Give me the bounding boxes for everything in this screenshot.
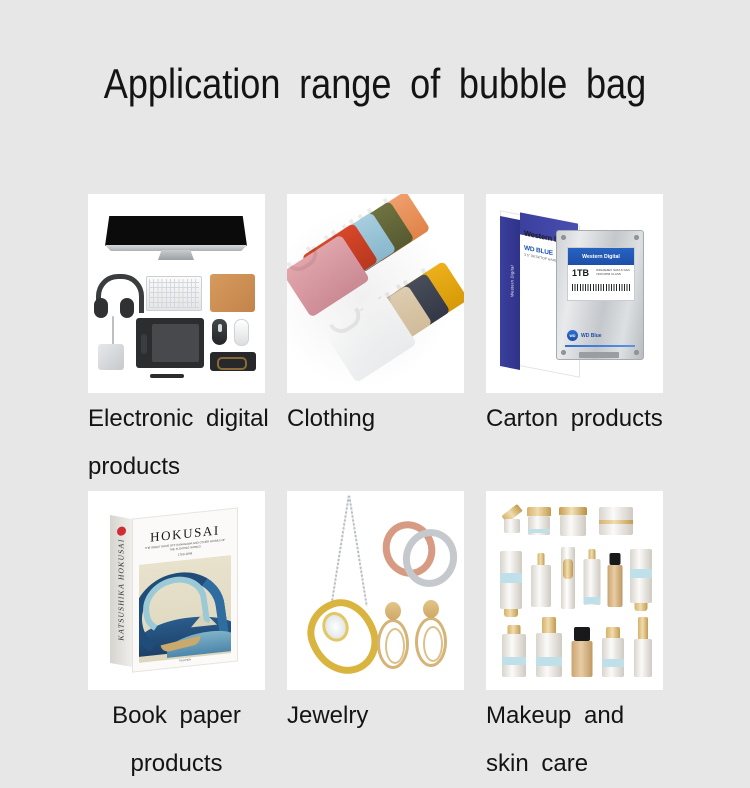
slim-dropper-bottle-icon (558, 547, 578, 611)
barcode-icon (572, 284, 630, 291)
grid-row: KATSUSHIKA HOKUSAI HOKUSAI THE GREAT WAV… (88, 491, 664, 788)
thumbnail-carton-products[interactable]: Western Digital Western Digital WD BLUE … (486, 194, 663, 393)
hard-drive-connector-icon (579, 352, 619, 358)
squeeze-tube-icon (498, 551, 524, 617)
mouse-pad-icon (210, 274, 255, 312)
lotion-tube-icon (628, 549, 654, 611)
cosmetics-set (496, 505, 654, 677)
thumbnail-makeup-and-skin-care[interactable] (486, 491, 663, 690)
thumbnail-clothing[interactable] (287, 194, 464, 393)
caption-carton-products: Carton products (486, 395, 663, 443)
retail-box-spine: Western Digital (500, 216, 520, 370)
caption-book-paper-products: Book paper products (88, 692, 265, 788)
black-mouse-icon (212, 319, 227, 345)
striped-cream-jar-icon (598, 507, 634, 537)
hard-drive-spec-text: WD10EZEX SATA 6 Gb/s 7200 RPM CLASS (596, 268, 632, 276)
wd-logo-icon: WD (567, 330, 578, 341)
pump-dispenser-icon (534, 617, 564, 677)
serum-bottle-icon (530, 553, 552, 611)
keyboard-icon (146, 276, 202, 311)
screw-icon (561, 350, 566, 355)
cream-jar-icon (526, 507, 552, 537)
category-cell-makeup-and-skin-care[interactable]: Makeup and skin care (486, 491, 663, 788)
retail-box-spine-text: Western Digital (510, 235, 515, 326)
hard-drive-logo: WD WD Blue (567, 330, 633, 341)
necklace-pendant-icon (299, 590, 387, 683)
hard-drive: Western Digital 1TB WD10EZEX SATA 6 Gb/s… (556, 230, 644, 360)
screw-icon (561, 235, 566, 240)
gold-cap-bottle-icon (600, 627, 626, 677)
product-category-grid: Electronic digital products Clothing (88, 194, 664, 788)
foundation-bottle-icon (606, 553, 624, 611)
book-cover: HOKUSAI THE GREAT WAVE OFF KANAGAWA AND … (132, 507, 238, 672)
thumbnail-jewelry[interactable] (287, 491, 464, 690)
cream-jar-tilted-icon (500, 507, 524, 533)
wide-cream-jar-icon (558, 507, 588, 537)
graphics-tablet-icon (136, 318, 204, 368)
hard-drive-brand-text: Western Digital (568, 248, 634, 265)
category-cell-book-paper-products[interactable]: KATSUSHIKA HOKUSAI HOKUSAI THE GREAT WAV… (88, 491, 265, 788)
headphone-earcup-right-icon (120, 298, 134, 318)
hard-drive-accent-line (565, 345, 635, 347)
stylus-pen-icon (150, 374, 184, 378)
clothing-shadow (287, 194, 464, 393)
screw-icon (634, 350, 639, 355)
earring-left-icon (377, 619, 409, 669)
page-title: Application range of bubble bag (53, 58, 698, 110)
category-cell-clothing[interactable]: Clothing (287, 194, 464, 491)
thumbnail-electronic-digital-products[interactable] (88, 194, 265, 393)
caption-makeup-and-skin-care: Makeup and skin care (486, 692, 663, 788)
monitor-screen-icon (105, 216, 247, 246)
caption-jewelry: Jewelry (287, 692, 464, 740)
tapered-tube-icon (582, 549, 602, 611)
toner-bottle-icon (500, 625, 528, 677)
necklace-chain-right-icon (348, 496, 367, 607)
monitor-stand-icon (158, 250, 194, 260)
white-mouse-icon (234, 319, 249, 346)
earring-right-icon (415, 617, 447, 667)
headphone-earcup-left-icon (94, 298, 108, 318)
black-cap-foundation-icon (570, 627, 594, 677)
hard-drive-logo-text: WD Blue (581, 333, 602, 339)
grid-row: Electronic digital products Clothing (88, 194, 664, 491)
hard-drive-label: Western Digital 1TB WD10EZEX SATA 6 Gb/s… (567, 247, 635, 301)
caption-clothing: Clothing (287, 395, 464, 443)
thumbnail-book-paper-products[interactable]: KATSUSHIKA HOKUSAI HOKUSAI THE GREAT WAV… (88, 491, 265, 690)
external-hard-drive-icon (98, 344, 124, 370)
book-spine: KATSUSHIKA HOKUSAI (110, 515, 132, 667)
necklace-chain-left-icon (330, 496, 349, 607)
accessory-pouch-icon (210, 352, 256, 371)
book-spine-text: KATSUSHIKA HOKUSAI (117, 529, 126, 651)
great-wave-artwork (139, 555, 231, 663)
category-cell-electronic-digital-products[interactable]: Electronic digital products (88, 194, 265, 491)
category-cell-jewelry[interactable]: Jewelry (287, 491, 464, 788)
screw-icon (634, 235, 639, 240)
category-cell-carton-products[interactable]: Western Digital Western Digital WD BLUE … (486, 194, 663, 491)
hard-drive-capacity-text: 1TB (572, 268, 589, 278)
tall-essence-bottle-icon (632, 617, 654, 677)
